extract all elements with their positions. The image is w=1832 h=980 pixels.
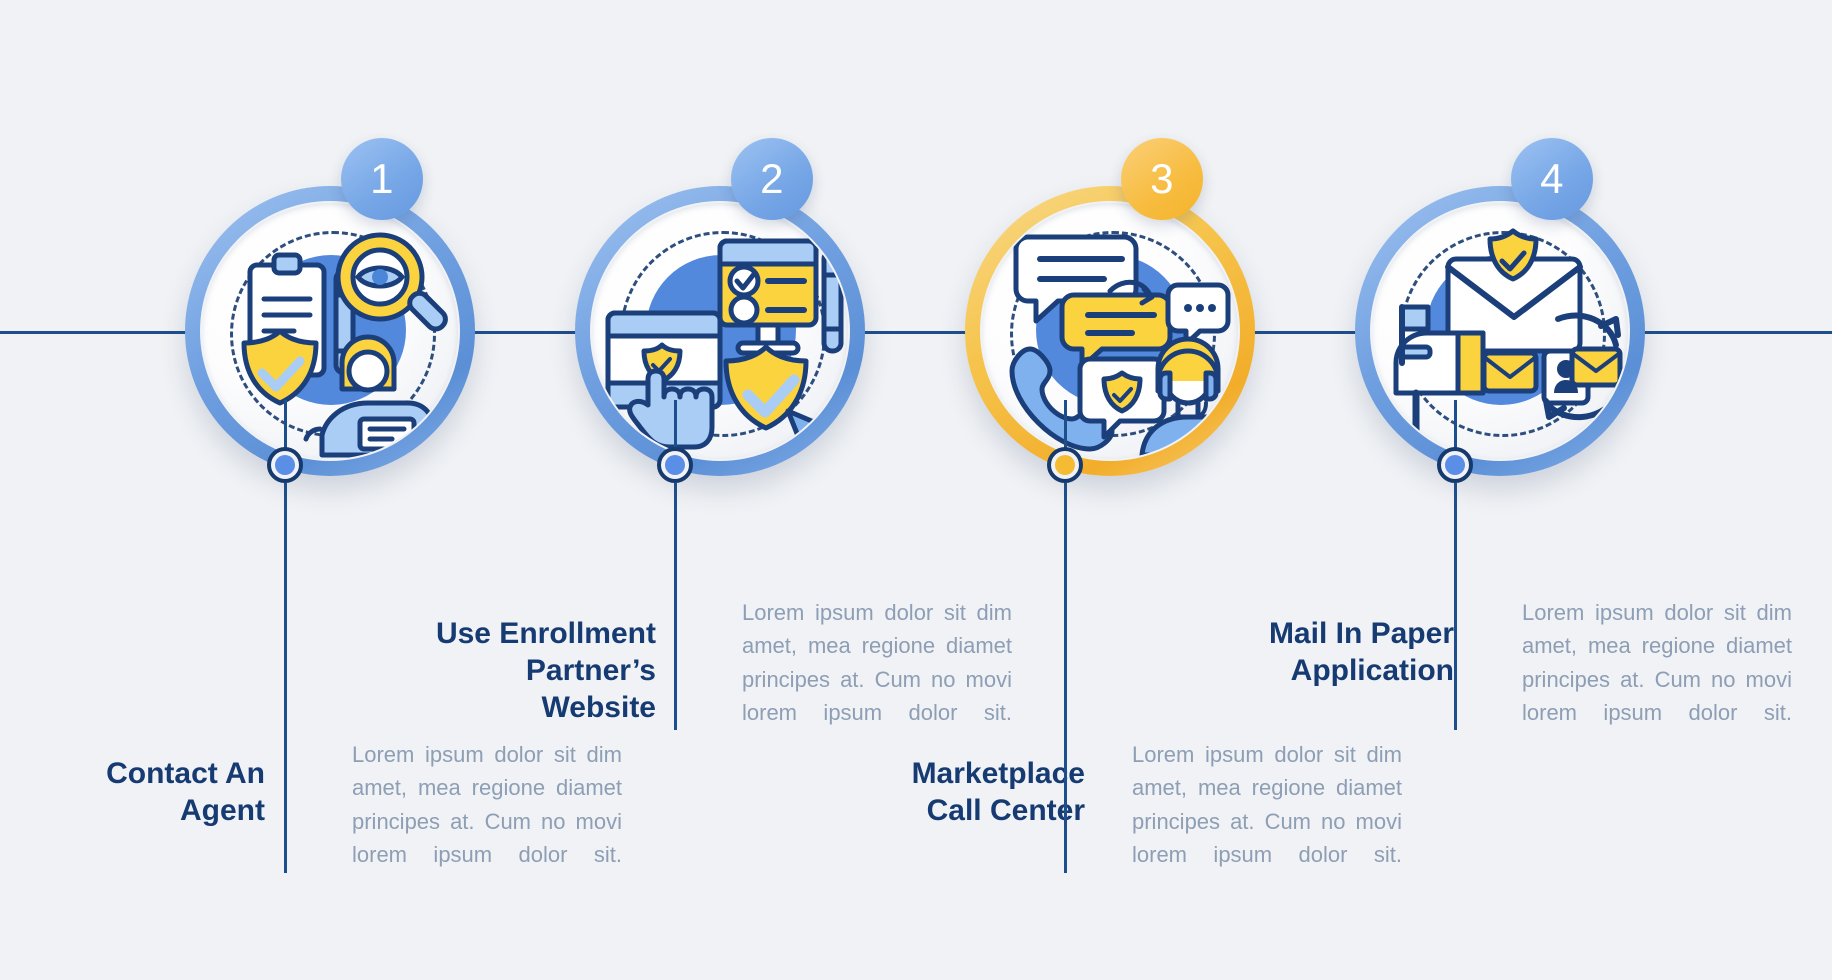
step-body-3: Lorem ipsum dolor sit dim amet, mea regi…	[1132, 738, 1402, 872]
step-body-rule-2	[674, 600, 677, 730]
step-dot-3	[1047, 447, 1083, 483]
mail-in-application-icon	[1372, 203, 1628, 459]
step-number-4: 4	[1540, 155, 1564, 203]
step-badge-3: 3	[1121, 138, 1203, 220]
step-disc-2	[592, 203, 848, 459]
step-disc-3	[982, 203, 1238, 459]
step-heading-block-2: Use Enrollment Partner’s Website	[420, 615, 656, 727]
infographic-canvas: 1 Contact An Agent Lorem ipsum dolor sit…	[0, 0, 1832, 980]
step-circle-1[interactable]: 1	[185, 186, 475, 476]
step-body-1: Lorem ipsum dolor sit dim amet, mea regi…	[352, 738, 622, 872]
step-stem-1-lower	[284, 483, 287, 743]
step-circle-2[interactable]: 2	[575, 186, 865, 476]
step-circle-4[interactable]: 4	[1355, 186, 1645, 476]
step-body-rule-4	[1454, 600, 1457, 730]
step-dot-2	[657, 447, 693, 483]
step-badge-2: 2	[731, 138, 813, 220]
step-heading-block-4: Mail In Paper Application	[1210, 615, 1454, 689]
step-disc-4	[1372, 203, 1628, 459]
step-body-rule-3	[1064, 743, 1067, 873]
step-badge-4: 4	[1511, 138, 1593, 220]
step-body-rule-1	[284, 743, 287, 873]
step-number-1: 1	[370, 155, 394, 203]
step-heading-1: Contact An Agent	[40, 755, 265, 829]
step-number-2: 2	[760, 155, 784, 203]
step-disc-1	[202, 203, 458, 459]
step-heading-block-1: Contact An Agent	[40, 755, 265, 829]
step-heading-2: Use Enrollment Partner’s Website	[420, 615, 656, 727]
online-enrollment-icon	[592, 203, 848, 459]
step-stem-3-lower	[1064, 483, 1067, 743]
step-body-2: Lorem ipsum dolor sit dim amet, mea regi…	[742, 596, 1012, 730]
call-center-support-icon	[982, 203, 1238, 459]
step-body-4: Lorem ipsum dolor sit dim amet, mea regi…	[1522, 596, 1792, 730]
step-heading-3: Marketplace Call Center	[830, 755, 1085, 829]
agent-review-icon	[202, 203, 458, 459]
step-heading-block-3: Marketplace Call Center	[830, 755, 1085, 829]
step-number-3: 3	[1150, 155, 1174, 203]
step-circle-3[interactable]: 3	[965, 186, 1255, 476]
step-badge-1: 1	[341, 138, 423, 220]
step-heading-4: Mail In Paper Application	[1210, 615, 1454, 689]
step-dot-4	[1437, 447, 1473, 483]
step-dot-1	[267, 447, 303, 483]
